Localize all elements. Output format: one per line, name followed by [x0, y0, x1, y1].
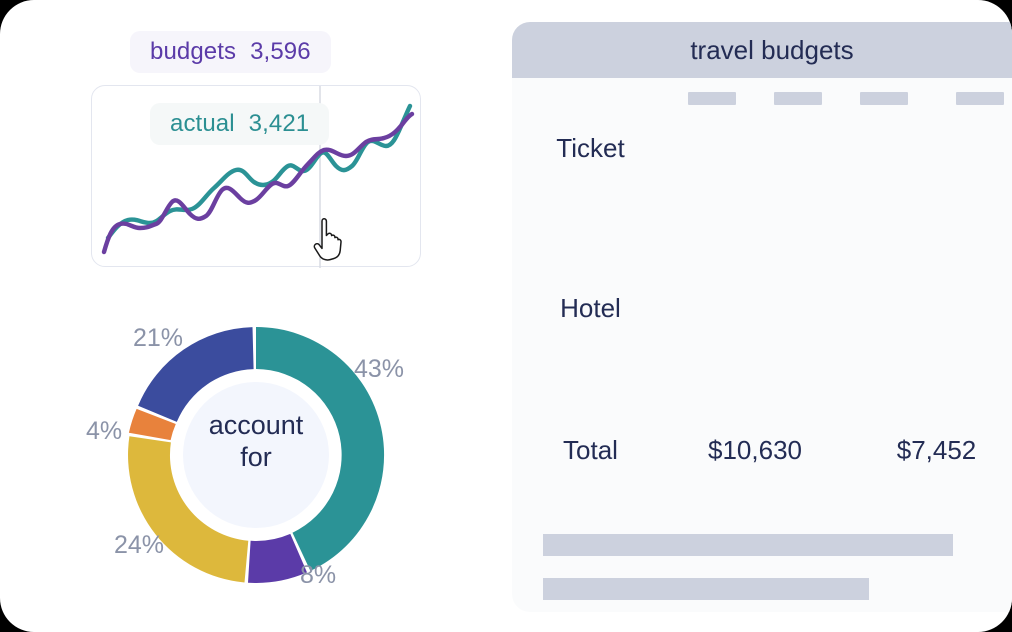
- header-skeleton-cell[interactable]: [927, 78, 1012, 118]
- tooltip-budgets-value: 3,596: [250, 38, 311, 66]
- table-cell[interactable]: [755, 318, 841, 338]
- table-cell[interactable]: [755, 238, 841, 258]
- table-cell[interactable]: [669, 358, 755, 378]
- donut-center-label: account for: [183, 409, 329, 473]
- table-cell[interactable]: [841, 338, 927, 358]
- footer-skeleton-bar: [543, 534, 953, 556]
- table-cell[interactable]: [669, 178, 755, 198]
- table-cell[interactable]: [755, 138, 841, 158]
- total-value-1: $10,630: [669, 398, 841, 502]
- table-cell[interactable]: [669, 218, 755, 238]
- table-cell[interactable]: [669, 258, 755, 278]
- table-cell[interactable]: [927, 338, 1012, 358]
- table-cell[interactable]: [755, 158, 841, 178]
- table-cell[interactable]: [755, 338, 841, 358]
- table-cell[interactable]: [755, 298, 841, 318]
- table-cell[interactable]: [841, 318, 927, 338]
- table-cell[interactable]: [669, 118, 755, 138]
- table-cell[interactable]: [927, 238, 1012, 258]
- table-cell[interactable]: [927, 378, 1012, 398]
- skeleton-chip: [956, 92, 1004, 105]
- table-cell[interactable]: [669, 338, 755, 358]
- skeleton-chip: [688, 92, 736, 105]
- tooltip-actual: actual 3,421: [150, 103, 329, 145]
- donut-label-3: 24%: [114, 531, 164, 560]
- tooltip-budgets-label: budgets: [150, 38, 236, 66]
- table-cell[interactable]: [755, 178, 841, 198]
- row-group-label-hotel: Hotel: [512, 218, 669, 398]
- table-cell[interactable]: [669, 298, 755, 318]
- table-cell[interactable]: [755, 278, 841, 298]
- table-cell[interactable]: [669, 318, 755, 338]
- skeleton-chip: [774, 92, 822, 105]
- table-row[interactable]: Hotel: [512, 218, 1012, 238]
- table-cell[interactable]: [755, 118, 841, 138]
- tooltip-actual-value: 3,421: [249, 110, 310, 138]
- table-cell[interactable]: [927, 198, 1012, 218]
- panel-header: travel budgets: [512, 22, 1012, 78]
- table-cell[interactable]: [669, 378, 755, 398]
- donut-label-1: 43%: [354, 355, 404, 384]
- table-cell[interactable]: [841, 238, 927, 258]
- donut-chart[interactable]: account for 43% 8% 24% 4% 21%: [86, 305, 426, 605]
- donut-center-line-1: account: [183, 409, 329, 441]
- table-cell[interactable]: [669, 278, 755, 298]
- table-cell[interactable]: [927, 118, 1012, 138]
- header-skeleton-cell[interactable]: [755, 78, 841, 118]
- table-cell[interactable]: [927, 258, 1012, 278]
- table-cell[interactable]: [755, 258, 841, 278]
- table-cell[interactable]: [841, 138, 927, 158]
- table-cell[interactable]: [755, 198, 841, 218]
- table-cell[interactable]: [669, 198, 755, 218]
- table-cell[interactable]: [669, 158, 755, 178]
- travel-budgets-panel: travel budgets Ticket: [512, 22, 1012, 612]
- skeleton-chip: [860, 92, 908, 105]
- table-cell[interactable]: [841, 278, 927, 298]
- table-cell[interactable]: [755, 358, 841, 378]
- donut-label-5: 21%: [133, 324, 183, 353]
- table-cell[interactable]: [841, 198, 927, 218]
- total-value-2: $7,452: [841, 398, 1012, 502]
- table-cell[interactable]: [927, 158, 1012, 178]
- header-skeleton-cell[interactable]: [669, 78, 755, 118]
- app-card: budgets 3,596 actual 3,421: [0, 0, 1012, 632]
- table-cell[interactable]: [841, 218, 927, 238]
- panel-footer: [512, 516, 1012, 612]
- table-cell[interactable]: [927, 318, 1012, 338]
- pointing-hand-cursor-icon: [313, 218, 347, 262]
- header-skeleton-cell[interactable]: [841, 78, 927, 118]
- table-cell[interactable]: [841, 178, 927, 198]
- table-cell[interactable]: [841, 358, 927, 378]
- tooltip-budgets: budgets 3,596: [130, 31, 331, 73]
- donut-center-line-2: for: [183, 441, 329, 473]
- table-cell[interactable]: [841, 118, 927, 138]
- table-cell[interactable]: [755, 218, 841, 238]
- total-row-label: Total: [512, 398, 669, 502]
- table-cell[interactable]: [927, 278, 1012, 298]
- charts-pane: budgets 3,596 actual 3,421: [0, 0, 470, 632]
- table-cell[interactable]: [841, 258, 927, 278]
- table-cell[interactable]: [927, 358, 1012, 378]
- donut-label-2: 8%: [300, 561, 336, 590]
- footer-skeleton-bar: [543, 578, 869, 600]
- table-cell[interactable]: [841, 158, 927, 178]
- row-group-label-ticket: Ticket: [512, 78, 669, 218]
- table-cell[interactable]: [841, 378, 927, 398]
- table-cell[interactable]: [927, 138, 1012, 158]
- panel-title: travel budgets: [690, 35, 853, 66]
- table-row[interactable]: Ticket: [512, 78, 1012, 118]
- table-cell[interactable]: [927, 298, 1012, 318]
- table-cell[interactable]: [841, 298, 927, 318]
- tooltip-actual-label: actual: [170, 110, 235, 138]
- budget-table[interactable]: Ticket: [512, 78, 1012, 502]
- table-cell[interactable]: [755, 378, 841, 398]
- table-cell[interactable]: [927, 218, 1012, 238]
- donut-label-4: 4%: [86, 417, 122, 446]
- table-cell[interactable]: [669, 238, 755, 258]
- table-cell[interactable]: [927, 178, 1012, 198]
- table-row-total[interactable]: Total $10,630 $7,452: [512, 398, 1012, 502]
- table-cell[interactable]: [669, 138, 755, 158]
